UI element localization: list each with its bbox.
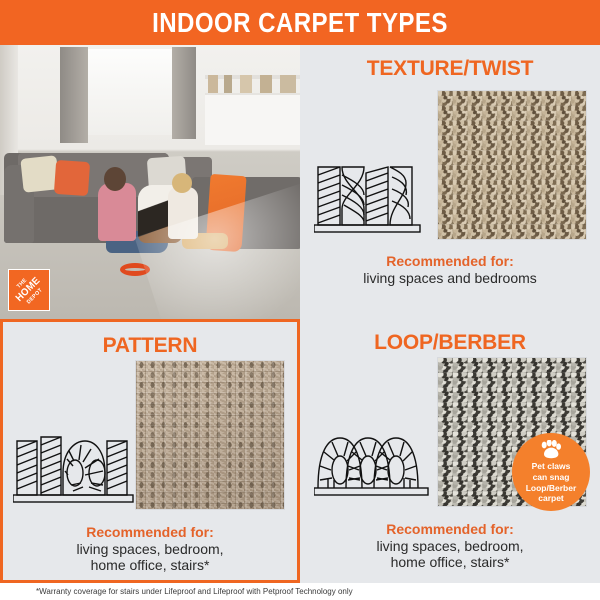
home-depot-logo-text: THE HOME DEPOT	[10, 271, 48, 309]
pet-badge-line-1: Pet claws	[526, 461, 577, 472]
photo-bookshelf	[205, 93, 300, 145]
pet-claws-warning-badge: Pet claws can snag Loop/Berber carpet	[512, 433, 590, 511]
panel-title-loop-berber: LOOP/BERBER	[300, 331, 600, 355]
carpet-types-infographic: INDOOR CARPET TYPES	[0, 0, 600, 600]
panel-title-texture-twist: TEXTURE/TWIST	[300, 57, 600, 81]
pet-badge-line-4: carpet	[526, 493, 577, 504]
the-home-depot-logo: THE HOME DEPOT	[8, 269, 50, 311]
photo-woman-head	[104, 167, 126, 191]
pet-badge-line-2: can snag	[526, 472, 577, 483]
rec-body-line-1: living spaces, bedroom,	[300, 538, 600, 555]
panel-pattern: PATTERN	[0, 319, 300, 583]
header-banner: INDOOR CARPET TYPES	[0, 0, 600, 45]
rec-label: Recommended for:	[3, 524, 297, 541]
loop-berber-pile-diagram	[314, 430, 430, 510]
photo-panel: THE HOME DEPOT	[0, 45, 300, 319]
panel-texture-twist: TEXTURE/TWIST Recommended fo	[300, 45, 600, 319]
panel-loop-berber: LOOP/BERBER	[300, 319, 600, 583]
paw-print-icon	[539, 440, 563, 460]
photo-pillow-orange	[54, 160, 90, 196]
panel-title-pattern: PATTERN	[3, 334, 297, 358]
photo-curtain-right	[172, 47, 196, 139]
texture-twist-pile-diagram	[314, 161, 422, 241]
photo-shelf-decor	[208, 75, 296, 95]
recommendation-pattern: Recommended for: living spaces, bedroom,…	[3, 524, 297, 574]
pattern-swatch-texture	[136, 361, 284, 509]
photo-curtain-left	[60, 47, 88, 143]
photo-woman-body	[98, 183, 136, 241]
warranty-disclaimer: *Warranty coverage for stairs under Life…	[0, 587, 353, 596]
pattern-pile-diagram	[13, 433, 135, 513]
rec-label: Recommended for:	[300, 521, 600, 538]
rec-label: Recommended for:	[300, 253, 600, 270]
pet-badge-text: Pet claws can snag Loop/Berber carpet	[526, 461, 577, 504]
panel-grid: THE HOME DEPOT TEXTURE/TWIST	[0, 45, 600, 583]
rec-body-line-2: home office, stairs*	[300, 554, 600, 571]
footer: *Warranty coverage for stairs under Life…	[0, 583, 600, 600]
texture-twist-carpet-swatch	[437, 90, 587, 240]
page-title: INDOOR CARPET TYPES	[152, 7, 448, 39]
photo-child-head	[172, 173, 192, 193]
rec-body-line-2: home office, stairs*	[3, 557, 297, 574]
pet-badge-line-3: Loop/Berber	[526, 483, 577, 494]
pattern-carpet-swatch	[135, 360, 285, 510]
rec-body-line-1: living spaces and bedrooms	[300, 270, 600, 287]
recommendation-loop-berber: Recommended for: living spaces, bedroom,…	[300, 521, 600, 571]
texture-twist-swatch-texture	[438, 91, 586, 239]
photo-window	[86, 49, 176, 135]
rec-body-line-1: living spaces, bedroom,	[3, 541, 297, 558]
recommendation-texture-twist: Recommended for: living spaces and bedro…	[300, 253, 600, 286]
